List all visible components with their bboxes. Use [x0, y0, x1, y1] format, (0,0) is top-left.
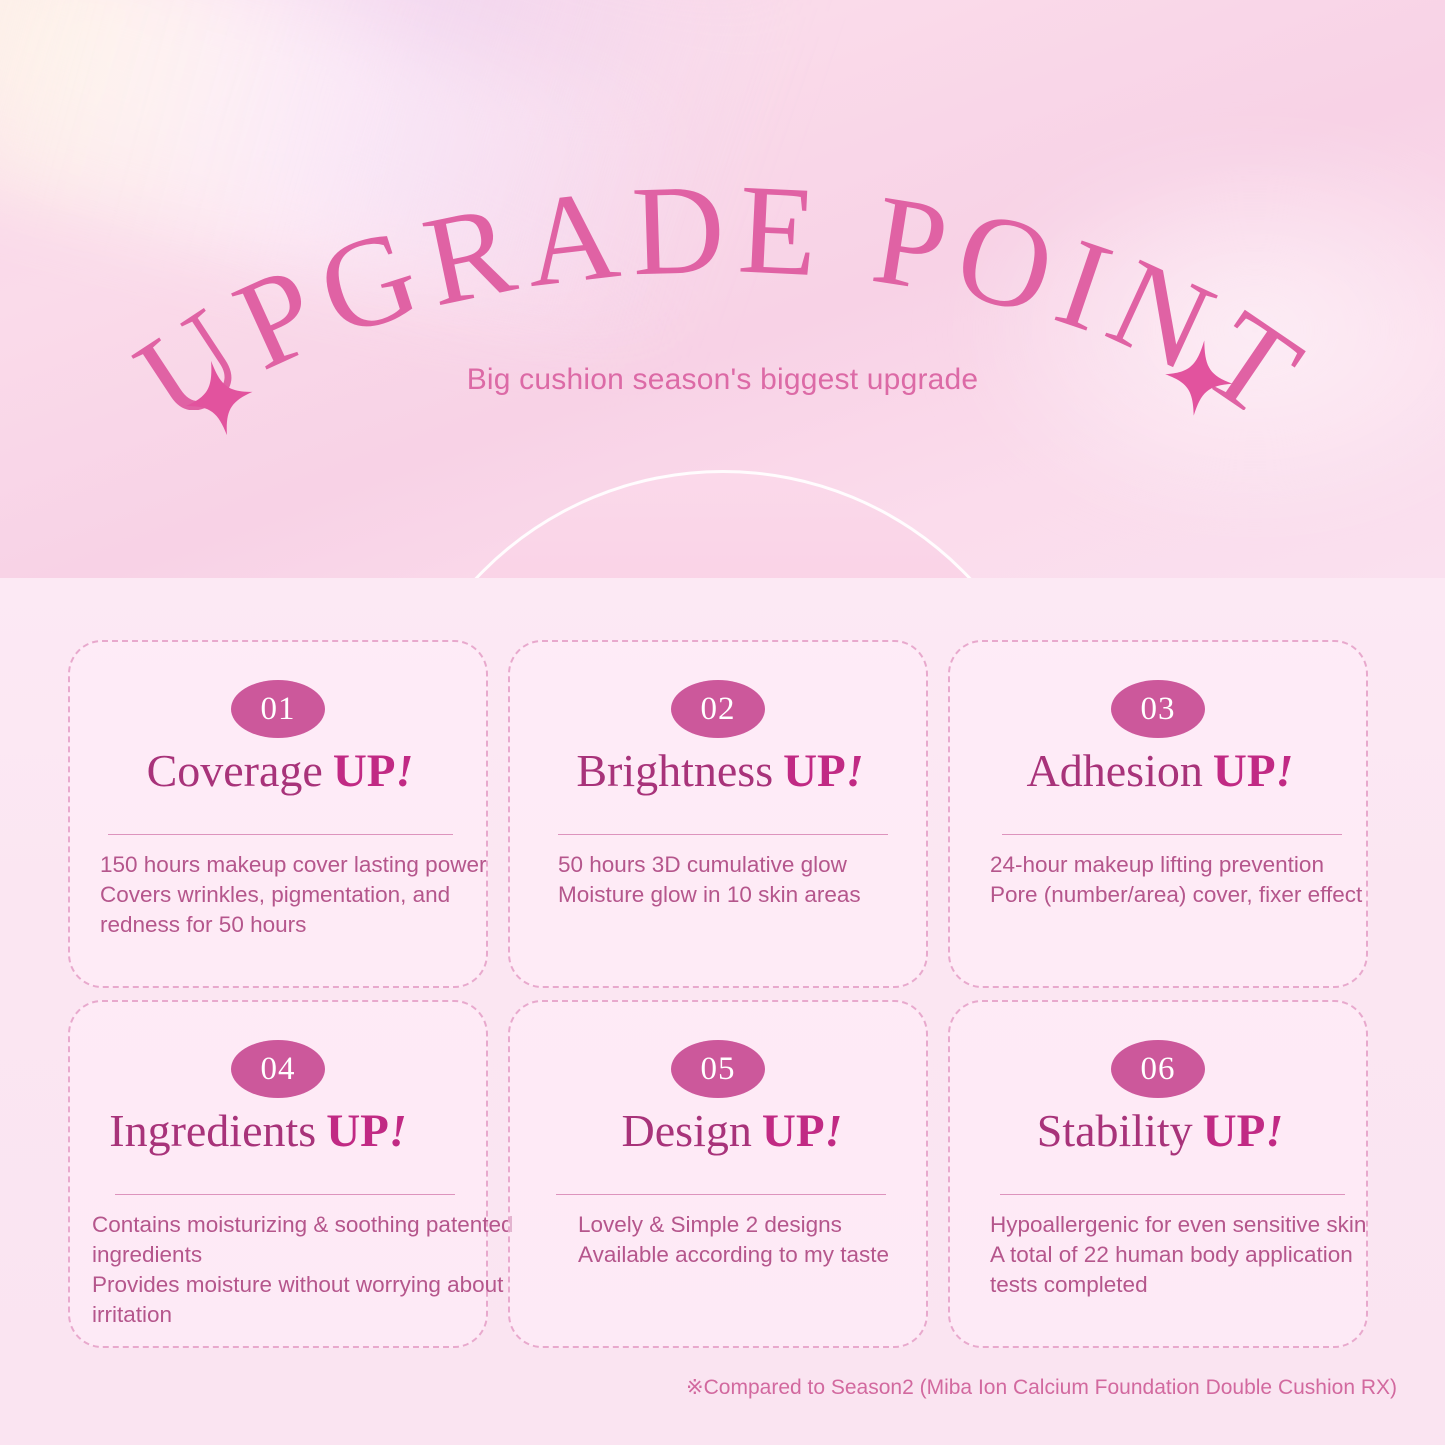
card-number-badge: 04: [231, 1040, 325, 1098]
card-up-label: UP: [1203, 1105, 1266, 1157]
footnote: ※Compared to Season2 (Miba Ion Calcium F…: [0, 1375, 1445, 1400]
card-up-label: UP: [1213, 745, 1276, 797]
card-title: StabilityUP!: [950, 1108, 1370, 1155]
card-number-badge: 03: [1111, 680, 1205, 738]
card-title-label: Brightness: [576, 745, 773, 796]
card-divider: [556, 1194, 886, 1195]
dome-shape: [383, 470, 1063, 578]
card-up-label: UP: [333, 745, 396, 797]
card-body-text: Lovely & Simple 2 designsAvailable accor…: [578, 1210, 889, 1270]
card-title: IngredientsUP!: [48, 1108, 468, 1155]
card-number-badge: 06: [1111, 1040, 1205, 1098]
upgrade-point-infographic: UPGRADE POINT Big cushion season's bigge…: [0, 0, 1445, 1445]
card-up-label: UP: [783, 745, 846, 797]
card-divider: [108, 834, 453, 835]
card-exclamation: !: [825, 1105, 843, 1156]
card-exclamation: !: [1265, 1105, 1283, 1156]
card-exclamation: !: [396, 745, 414, 796]
card-up-label: UP: [762, 1105, 825, 1157]
upgrade-card-06: 06 StabilityUP! Hypoallergenic for even …: [948, 1000, 1368, 1348]
card-title-label: Adhesion: [1027, 745, 1203, 796]
upgrade-card-02: 02 BrightnessUP! 50 hours 3D cumulative …: [508, 640, 928, 988]
card-exclamation: !: [389, 1105, 407, 1156]
card-title: BrightnessUP!: [510, 748, 930, 795]
card-number-badge: 02: [671, 680, 765, 738]
upgrade-card-01: 01 CoverageUP! 150 hours makeup cover la…: [68, 640, 488, 988]
upgrade-points-grid: 01 CoverageUP! 150 hours makeup cover la…: [68, 640, 1388, 1348]
card-divider: [1000, 1194, 1345, 1195]
upgrade-card-05: 05 DesignUP! Lovely & Simple 2 designsAv…: [508, 1000, 928, 1348]
card-title: DesignUP!: [522, 1108, 942, 1155]
card-exclamation: !: [1276, 745, 1294, 796]
iridescent-streak-secondary: [0, 0, 795, 390]
iridescent-streak-primary: [0, 0, 886, 372]
card-title-label: Design: [622, 1105, 752, 1156]
page-subtitle: Big cushion season's biggest upgrade: [0, 363, 1445, 397]
card-exclamation: !: [846, 745, 864, 796]
card-divider: [1002, 834, 1342, 835]
upgrade-points-section: 01 CoverageUP! 150 hours makeup cover la…: [0, 578, 1445, 1445]
card-number-badge: 01: [231, 680, 325, 738]
upgrade-card-03: 03 AdhesionUP! 24-hour makeup lifting pr…: [948, 640, 1368, 988]
header-glow: [945, 120, 1445, 540]
card-title-label: Stability: [1037, 1105, 1193, 1156]
card-body-text: 50 hours 3D cumulative glowMoisture glow…: [558, 850, 861, 910]
header-banner: UPGRADE POINT Big cushion season's bigge…: [0, 0, 1445, 578]
card-divider: [115, 1194, 455, 1195]
card-body-text: Contains moisturizing & soothing patente…: [92, 1210, 514, 1330]
card-title-label: Coverage: [147, 745, 323, 796]
card-body-text: Hypoallergenic for even sensitive skinA …: [990, 1210, 1366, 1300]
card-divider: [558, 834, 888, 835]
upgrade-card-04: 04 IngredientsUP! Contains moisturizing …: [68, 1000, 488, 1348]
card-title: CoverageUP!: [70, 748, 490, 795]
card-number-badge: 05: [671, 1040, 765, 1098]
card-up-label: UP: [326, 1105, 389, 1157]
card-body-text: 24-hour makeup lifting preventionPore (n…: [990, 850, 1362, 910]
card-title: AdhesionUP!: [950, 748, 1370, 795]
card-body-text: 150 hours makeup cover lasting powerCove…: [100, 850, 486, 940]
card-title-label: Ingredients: [109, 1105, 316, 1156]
